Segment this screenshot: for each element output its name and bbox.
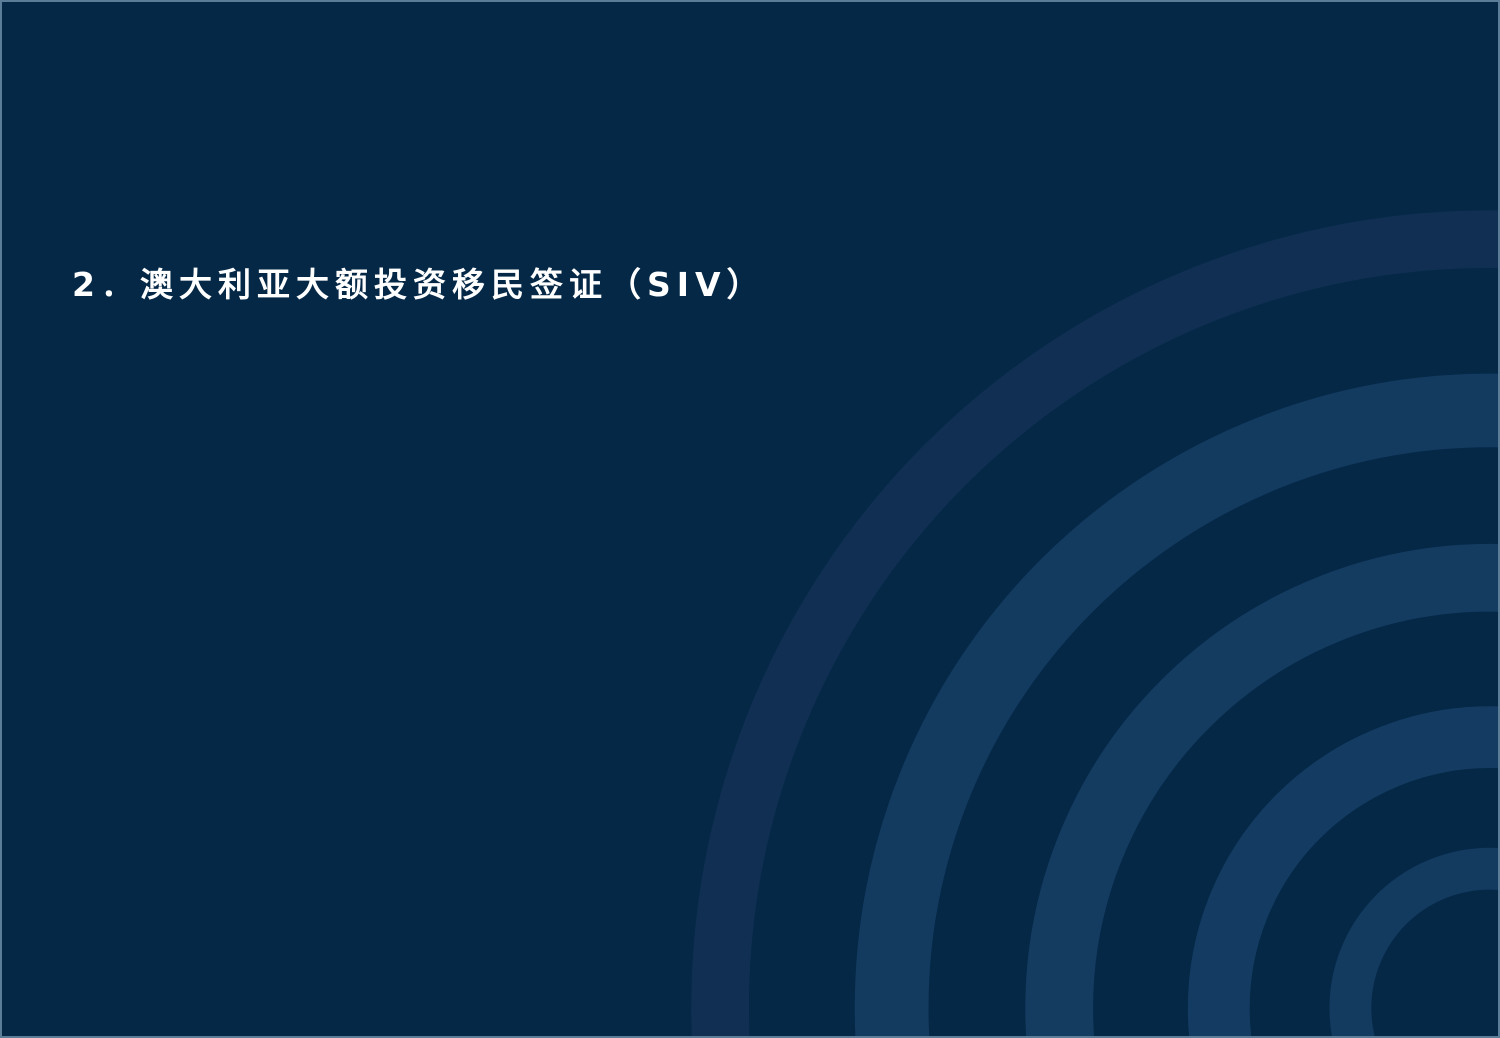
presentation-slide: 2．澳大利亚大额投资移民签证（SIV） xyxy=(0,0,1500,1038)
ring-arc-3 xyxy=(1059,578,1498,1036)
title-block: 2．澳大利亚大额投资移民签证（SIV） xyxy=(72,264,766,305)
page-title: 2．澳大利亚大额投资移民签证（SIV） xyxy=(72,264,766,305)
concentric-ring-arcs-decoration xyxy=(2,2,1498,1036)
ring-arc-5 xyxy=(720,239,1498,1036)
ring-arc-1 xyxy=(1350,869,1498,1036)
ring-arc-4 xyxy=(892,410,1498,1036)
ring-arc-2 xyxy=(1219,737,1498,1036)
